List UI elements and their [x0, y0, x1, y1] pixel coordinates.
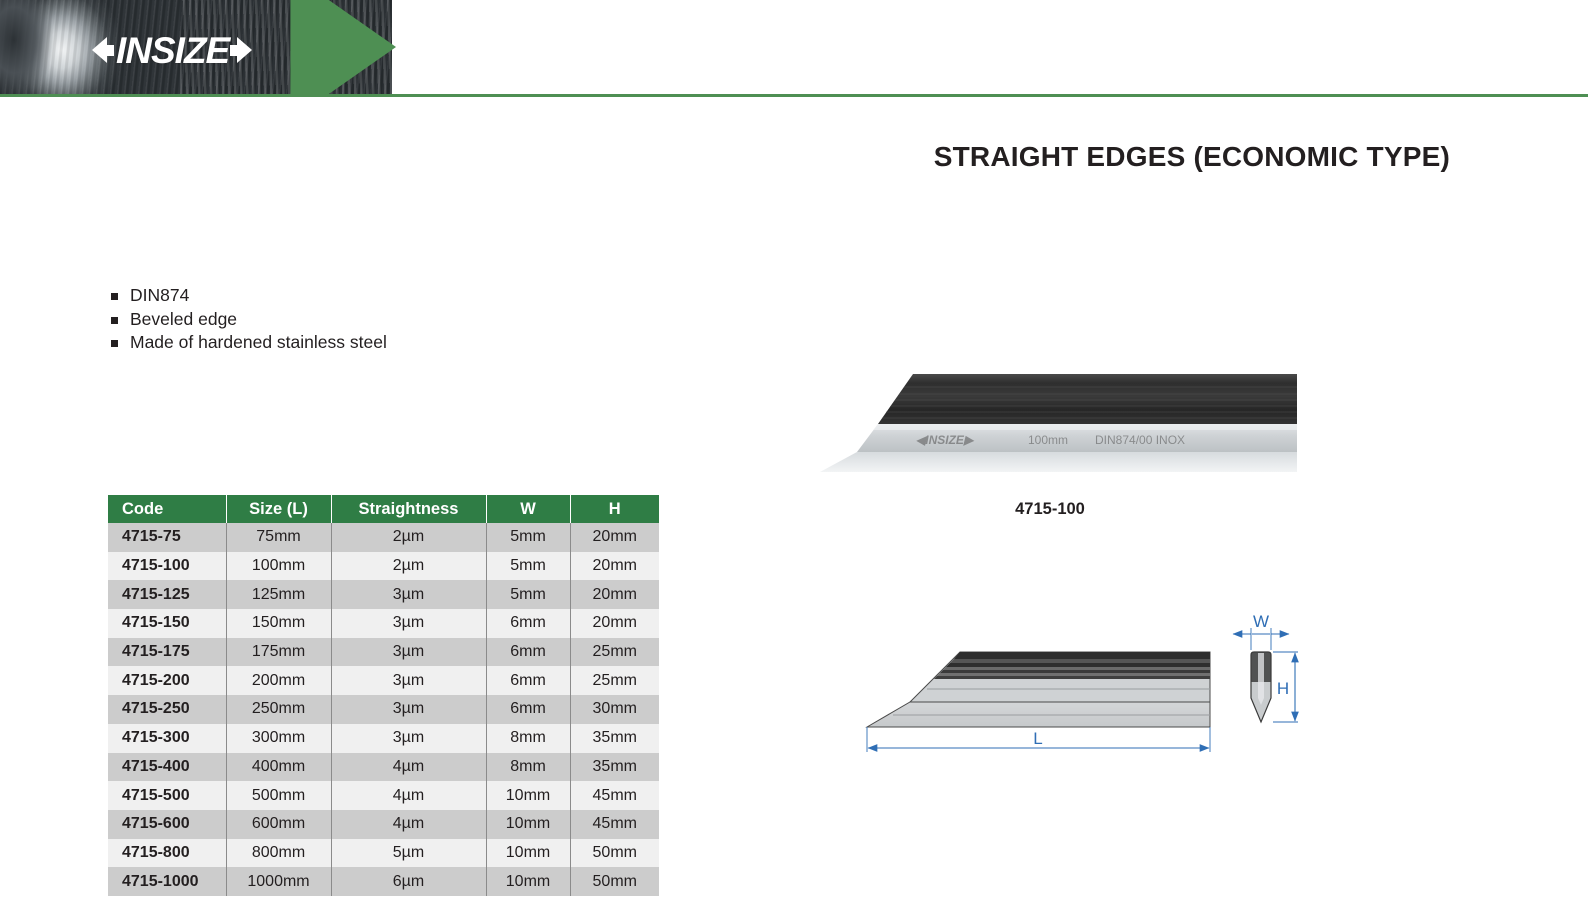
width-dimension: W	[1233, 612, 1289, 650]
cell-w: 6mm	[486, 695, 570, 724]
list-item: Beveled edge	[108, 308, 387, 332]
column-header-w: W	[486, 495, 570, 523]
table-row[interactable]: 4715-75 75mm 2µm 5mm 20mm	[108, 523, 659, 552]
logo-wordmark: INSIZE	[116, 32, 229, 69]
column-header-size: Size (L)	[226, 495, 331, 523]
cell-code: 4715-125	[108, 580, 226, 609]
table-row[interactable]: 4715-600 600mm 4µm 10mm 45mm	[108, 810, 659, 839]
column-header-straightness: Straightness	[331, 495, 486, 523]
cell-size: 175mm	[226, 638, 331, 667]
product-photo: ◀INSIZE▶ 100mm DIN874/00 INOX	[800, 352, 1300, 482]
banner-green-rule	[0, 94, 1588, 97]
svg-text:◀INSIZE▶: ◀INSIZE▶	[916, 433, 975, 447]
cell-w: 5mm	[486, 523, 570, 552]
cell-w: 10mm	[486, 839, 570, 868]
table-row[interactable]: 4715-800 800mm 5µm 10mm 50mm	[108, 839, 659, 868]
cross-section-view	[1251, 652, 1271, 722]
cell-size: 75mm	[226, 523, 331, 552]
cell-h: 30mm	[570, 695, 659, 724]
specification-table: Code Size (L) Straightness W H 4715-75 7…	[108, 495, 659, 896]
list-item: Made of hardened stainless steel	[108, 331, 387, 355]
cell-h: 20mm	[570, 580, 659, 609]
cell-size: 150mm	[226, 609, 331, 638]
cell-straightness: 3µm	[331, 638, 486, 667]
cell-size: 100mm	[226, 552, 331, 581]
cell-size: 400mm	[226, 753, 331, 782]
dimension-diagram: L W H	[855, 612, 1305, 757]
isometric-view	[867, 652, 1210, 727]
height-dimension: H	[1273, 652, 1298, 722]
width-label: W	[1253, 612, 1269, 631]
table-row[interactable]: 4715-175 175mm 3µm 6mm 25mm	[108, 638, 659, 667]
column-header-code: Code	[108, 495, 226, 523]
svg-text:DIN874/00 INOX: DIN874/00 INOX	[1095, 433, 1185, 447]
cell-w: 10mm	[486, 781, 570, 810]
cell-straightness: 2µm	[331, 552, 486, 581]
cell-h: 50mm	[570, 839, 659, 868]
cell-w: 8mm	[486, 753, 570, 782]
cell-h: 25mm	[570, 666, 659, 695]
column-header-h: H	[570, 495, 659, 523]
logo-left-arrow-tail-icon	[104, 45, 114, 56]
logo-right-arrow-icon	[237, 37, 252, 63]
length-label: L	[1033, 729, 1042, 748]
cell-straightness: 3µm	[331, 580, 486, 609]
length-dimension: L	[867, 727, 1210, 752]
banner-photo-shadow	[0, 0, 60, 94]
cell-straightness: 3µm	[331, 609, 486, 638]
cell-size: 200mm	[226, 666, 331, 695]
page-title: STRAIGHT EDGES (ECONOMIC TYPE)	[934, 141, 1450, 173]
cell-code: 4715-150	[108, 609, 226, 638]
cell-h: 35mm	[570, 724, 659, 753]
insize-logo[interactable]: INSIZE	[92, 32, 252, 68]
cell-w: 5mm	[486, 580, 570, 609]
cell-code: 4715-1000	[108, 867, 226, 896]
cell-w: 6mm	[486, 666, 570, 695]
list-item: DIN874	[108, 284, 387, 308]
height-label: H	[1277, 679, 1289, 698]
table-row[interactable]: 4715-1000 1000mm 6µm 10mm 50mm	[108, 867, 659, 896]
cell-w: 6mm	[486, 638, 570, 667]
cell-straightness: 6µm	[331, 867, 486, 896]
cell-size: 600mm	[226, 810, 331, 839]
table-row[interactable]: 4715-250 250mm 3µm 6mm 30mm	[108, 695, 659, 724]
cell-code: 4715-75	[108, 523, 226, 552]
cell-size: 250mm	[226, 695, 331, 724]
straight-edge-photo-graphic: ◀INSIZE▶ 100mm DIN874/00 INOX	[800, 352, 1300, 482]
feature-list: DIN874 Beveled edge Made of hardened sta…	[108, 284, 387, 355]
cell-code: 4715-200	[108, 666, 226, 695]
cell-straightness: 3µm	[331, 724, 486, 753]
cell-code: 4715-400	[108, 753, 226, 782]
cell-w: 5mm	[486, 552, 570, 581]
table-header-row: Code Size (L) Straightness W H	[108, 495, 659, 523]
cell-h: 20mm	[570, 523, 659, 552]
cell-code: 4715-250	[108, 695, 226, 724]
table-row[interactable]: 4715-200 200mm 3µm 6mm 25mm	[108, 666, 659, 695]
cell-h: 45mm	[570, 810, 659, 839]
cell-straightness: 3µm	[331, 695, 486, 724]
cell-code: 4715-300	[108, 724, 226, 753]
cell-size: 500mm	[226, 781, 331, 810]
cell-size: 125mm	[226, 580, 331, 609]
cell-w: 8mm	[486, 724, 570, 753]
cell-size: 300mm	[226, 724, 331, 753]
cell-size: 1000mm	[226, 867, 331, 896]
cell-h: 25mm	[570, 638, 659, 667]
cell-straightness: 4µm	[331, 810, 486, 839]
table-row[interactable]: 4715-100 100mm 2µm 5mm 20mm	[108, 552, 659, 581]
svg-text:100mm: 100mm	[1028, 433, 1068, 447]
cell-straightness: 5µm	[331, 839, 486, 868]
table-row[interactable]: 4715-400 400mm 4µm 8mm 35mm	[108, 753, 659, 782]
cell-straightness: 4µm	[331, 781, 486, 810]
cell-code: 4715-175	[108, 638, 226, 667]
cell-h: 45mm	[570, 781, 659, 810]
cell-h: 20mm	[570, 552, 659, 581]
cell-w: 10mm	[486, 867, 570, 896]
table-row[interactable]: 4715-125 125mm 3µm 5mm 20mm	[108, 580, 659, 609]
cell-straightness: 4µm	[331, 753, 486, 782]
cell-h: 20mm	[570, 609, 659, 638]
cell-code: 4715-800	[108, 839, 226, 868]
product-caption: 4715-100	[800, 500, 1300, 519]
cell-code: 4715-500	[108, 781, 226, 810]
table-row[interactable]: 4715-500 500mm 4µm 10mm 45mm	[108, 781, 659, 810]
technical-drawing: L W H	[855, 612, 1305, 757]
header-banner: INSIZE	[0, 0, 1588, 97]
cell-code: 4715-600	[108, 810, 226, 839]
cell-h: 50mm	[570, 867, 659, 896]
cell-straightness: 2µm	[331, 523, 486, 552]
table-row[interactable]: 4715-300 300mm 3µm 8mm 35mm	[108, 724, 659, 753]
cell-w: 6mm	[486, 609, 570, 638]
cell-h: 35mm	[570, 753, 659, 782]
cell-straightness: 3µm	[331, 666, 486, 695]
cell-code: 4715-100	[108, 552, 226, 581]
cell-w: 10mm	[486, 810, 570, 839]
cell-size: 800mm	[226, 839, 331, 868]
table-body: 4715-75 75mm 2µm 5mm 20mm 4715-100 100mm…	[108, 523, 659, 896]
table-row[interactable]: 4715-150 150mm 3µm 6mm 20mm	[108, 609, 659, 638]
